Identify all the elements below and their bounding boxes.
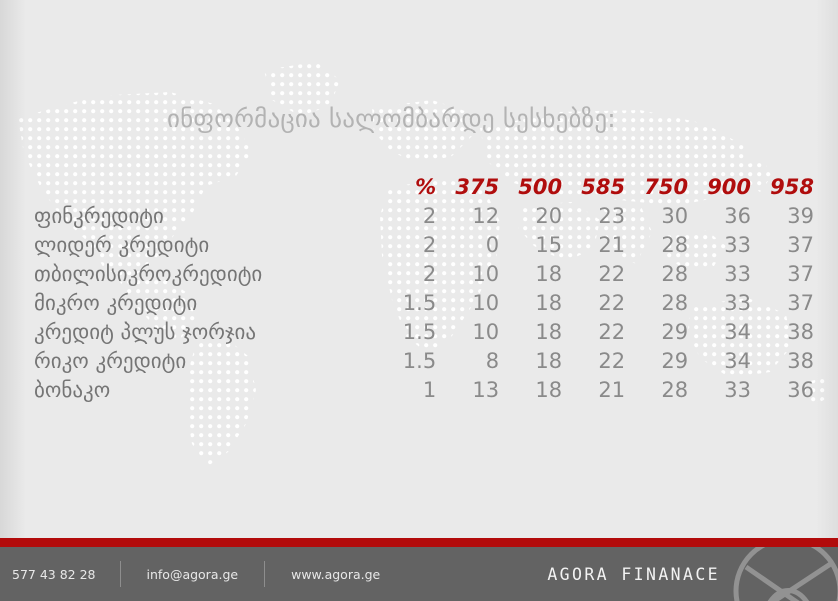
brand-name: AGORA FINANACE [547,565,720,584]
cell-500: 18 [499,376,562,405]
page-title: ინფორმაცია სალომბარდე სესხებზე: [167,104,616,133]
cell-958: 37 [751,231,814,260]
cell-percent: 2 [387,231,436,260]
row-label: ფინკრედიტი [34,202,387,231]
slide-content: ინფორმაცია სალომბარდე სესხებზე: % 375 50… [0,0,838,540]
brand-lockup: AGORA FINANACE [547,547,720,601]
cell-375: 10 [436,260,499,289]
cell-375: 12 [436,202,499,231]
table-row: მიკრო კრედიტი 1.5 10 18 22 28 33 37 [34,289,814,318]
table-row: ლიდერ კრედიტი 2 0 15 21 28 33 37 [34,231,814,260]
cell-585: 21 [562,231,625,260]
cell-958: 36 [751,376,814,405]
cell-375: 8 [436,347,499,376]
row-label: მიკრო კრედიტი [34,289,387,318]
cell-750: 30 [625,202,688,231]
loan-rates-table: % 375 500 585 750 900 958 ფინკრედიტი 2 1… [34,172,814,405]
cell-750: 28 [625,260,688,289]
column-header-375: 375 [436,172,499,202]
cell-958: 38 [751,347,814,376]
agora-circle-logo-icon [730,547,838,601]
cell-585: 22 [562,289,625,318]
footer-email[interactable]: info@agora.ge [121,567,265,582]
cell-900: 34 [688,318,751,347]
column-header-750: 750 [625,172,688,202]
cell-percent: 1.5 [387,289,436,318]
table-row: რიკო კრედიტი 1.5 8 18 22 29 34 38 [34,347,814,376]
cell-percent: 2 [387,260,436,289]
cell-375: 0 [436,231,499,260]
table-row: ბონაკო 1 13 18 21 28 33 36 [34,376,814,405]
column-header-percent: % [387,172,436,202]
column-header-958: 958 [751,172,814,202]
cell-percent: 1.5 [387,318,436,347]
cell-375: 10 [436,289,499,318]
cell-958: 38 [751,318,814,347]
slide-canvas: ინფორმაცია სალომბარდე სესხებზე: % 375 50… [0,0,838,601]
cell-375: 10 [436,318,499,347]
cell-585: 21 [562,376,625,405]
cell-750: 28 [625,231,688,260]
cell-585: 23 [562,202,625,231]
cell-percent: 2 [387,202,436,231]
table-header-row: % 375 500 585 750 900 958 [34,172,814,202]
cell-500: 18 [499,260,562,289]
cell-900: 33 [688,289,751,318]
cell-900: 34 [688,347,751,376]
cell-750: 28 [625,289,688,318]
table-row: თბილისიკროკრედიტი 2 10 18 22 28 33 37 [34,260,814,289]
cell-500: 15 [499,231,562,260]
cell-500: 18 [499,289,562,318]
row-label: ლიდერ კრედიტი [34,231,387,260]
row-label: კრედიტ პლუს ჯორჯია [34,318,387,347]
cell-585: 22 [562,318,625,347]
cell-percent: 1.5 [387,347,436,376]
table-row: კრედიტ პლუს ჯორჯია 1.5 10 18 22 29 34 38 [34,318,814,347]
table-row: ფინკრედიტი 2 12 20 23 30 36 39 [34,202,814,231]
cell-958: 39 [751,202,814,231]
cell-585: 22 [562,347,625,376]
cell-500: 18 [499,318,562,347]
cell-percent: 1 [387,376,436,405]
cell-900: 33 [688,231,751,260]
column-header-585: 585 [562,172,625,202]
red-divider-rule [0,538,838,547]
cell-750: 28 [625,376,688,405]
cell-375: 13 [436,376,499,405]
table-body: ფინკრედიტი 2 12 20 23 30 36 39 ლიდერ კრე… [34,202,814,405]
row-label: თბილისიკროკრედიტი [34,260,387,289]
footer-phone[interactable]: 577 43 82 28 [12,567,120,582]
column-header-900: 900 [688,172,751,202]
cell-585: 22 [562,260,625,289]
footer-contact-list: 577 43 82 28 info@agora.ge www.agora.ge [12,547,406,601]
table-header: % 375 500 585 750 900 958 [34,172,814,202]
cell-750: 29 [625,347,688,376]
column-header-500: 500 [499,172,562,202]
cell-958: 37 [751,260,814,289]
footer-bar: 577 43 82 28 info@agora.ge www.agora.ge … [0,547,838,601]
cell-900: 33 [688,376,751,405]
cell-900: 36 [688,202,751,231]
cell-958: 37 [751,289,814,318]
row-label: რიკო კრედიტი [34,347,387,376]
column-header-name [34,172,387,202]
cell-900: 33 [688,260,751,289]
footer-website[interactable]: www.agora.ge [265,567,406,582]
cell-750: 29 [625,318,688,347]
row-label: ბონაკო [34,376,387,405]
cell-500: 18 [499,347,562,376]
cell-500: 20 [499,202,562,231]
